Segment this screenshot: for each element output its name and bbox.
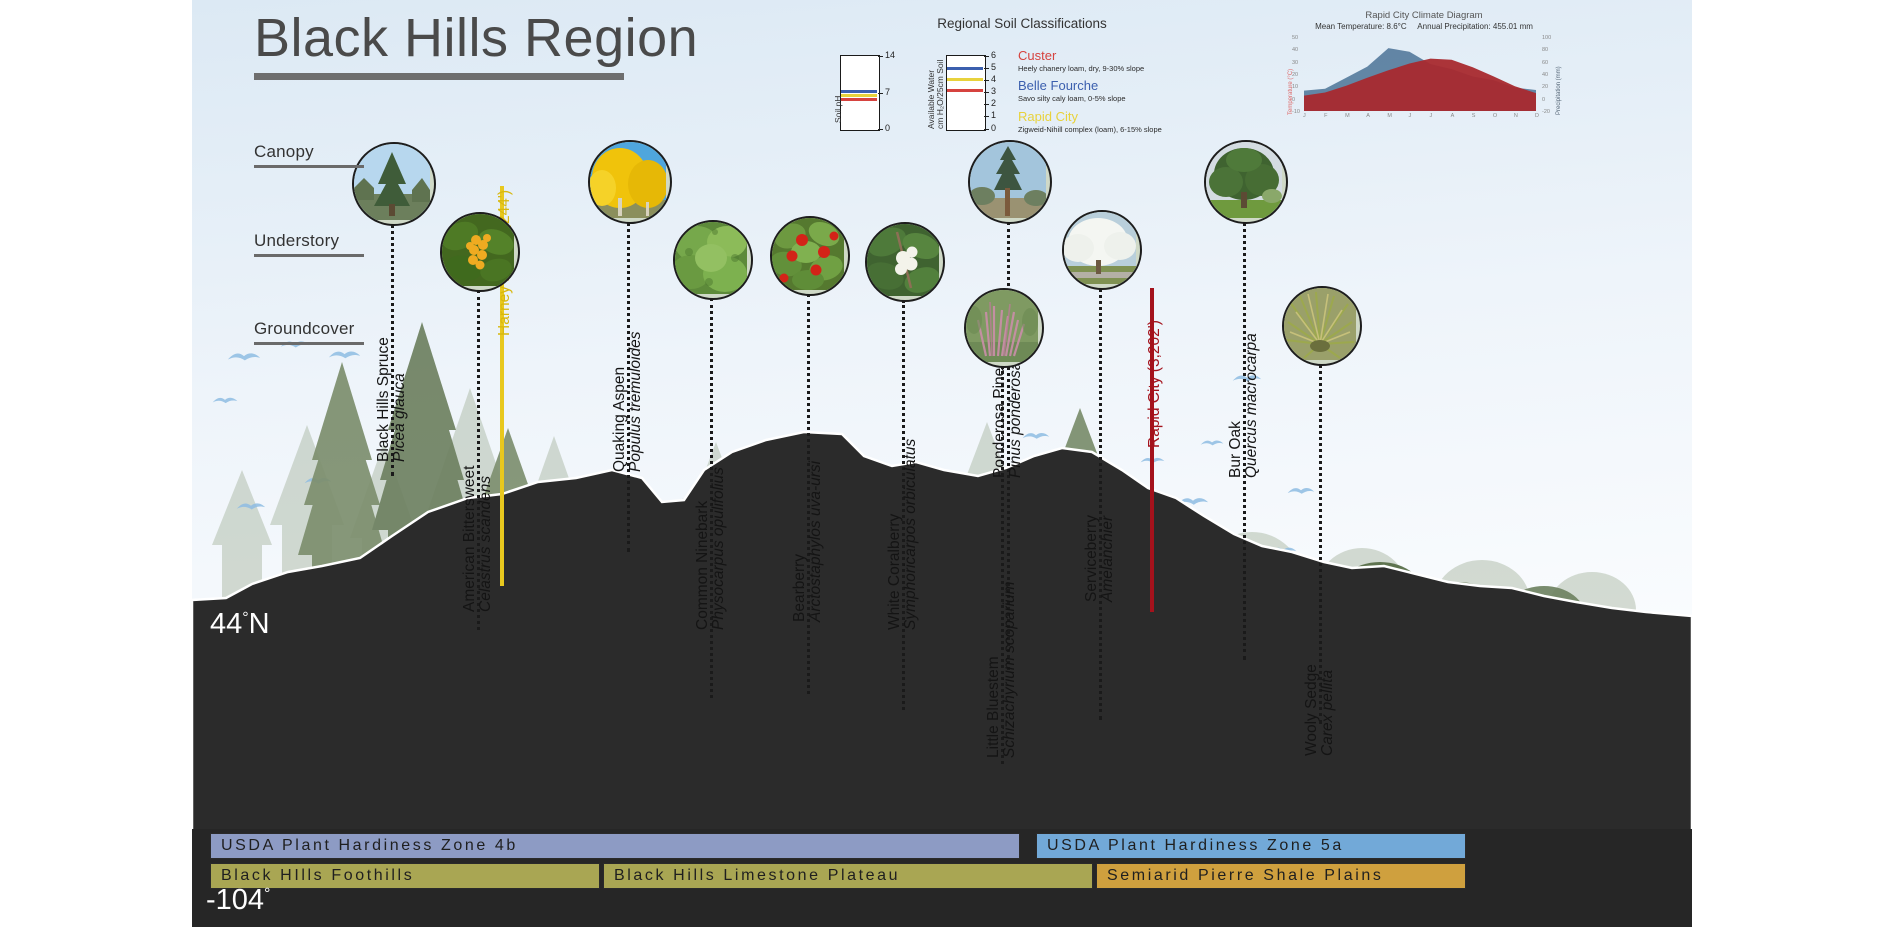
soil-class-desc: Heely chanery loam, dry, 9-30% slope	[1018, 64, 1144, 73]
ph-tick-7: 7	[885, 87, 890, 97]
water-line-belle-fourche	[947, 67, 983, 70]
midground-vegetation	[192, 300, 1692, 640]
soil-ph-axis-box	[840, 55, 880, 131]
page-title: Black Hills Region	[254, 10, 698, 67]
water-tickmark	[984, 56, 989, 57]
species-latin-name: Schizachyrium scoparium	[1002, 581, 1018, 758]
species-common-name: Serviceberry	[1084, 515, 1100, 602]
soil-class-name: Rapid City	[1018, 110, 1162, 123]
climate-diagram: Rapid City Climate Diagram Mean Temperat…	[1274, 10, 1574, 130]
water-tickmark	[984, 116, 989, 117]
hardiness-zone-row: USDA Plant Hardiness Zone 4b USDA Plant …	[210, 833, 1692, 859]
stratum-canopy-label: Canopy	[254, 142, 364, 162]
species-common-name: Common Ninebark	[695, 467, 711, 630]
climate-month-label: M	[1345, 113, 1350, 119]
buroak-photo	[1204, 140, 1288, 224]
title-underline	[254, 73, 624, 80]
species-latin-name: Symphoricarpos orbiculatus	[903, 439, 919, 630]
climate-ylabel-right: Precipitation (mm)	[1556, 66, 1562, 115]
right-margin	[1692, 0, 1900, 927]
left-margin	[0, 0, 192, 927]
climate-month-label: J	[1430, 113, 1433, 119]
species-latin-name: Carex pellita	[1320, 664, 1336, 756]
title-block: Black Hills Region	[254, 10, 698, 80]
ph-line-custer	[841, 98, 877, 101]
species-common-name: Little Bluestem	[986, 581, 1002, 758]
species-latin-name: Quercus macrocarpa	[1244, 333, 1260, 478]
bands-container: USDA Plant Hardiness Zone 4b USDA Plant …	[192, 833, 1692, 927]
ph-tickmark	[878, 93, 883, 94]
species-name-block: Little Bluestem Schizachyrium scoparium	[986, 581, 1019, 758]
climate-month-label: A	[1451, 113, 1455, 119]
stratum-groundcover-underline	[254, 342, 364, 345]
water-tick-2: 2	[991, 98, 996, 108]
stratum-canopy-underline	[254, 165, 364, 168]
species-name-block: American Bittersweet Celastrus scandens	[462, 466, 495, 612]
climate-month-label: N	[1514, 113, 1518, 119]
climate-left-tick: 30	[1292, 60, 1298, 66]
stratum-groundcover-label: Groundcover	[254, 319, 364, 339]
climate-right-tick: 40	[1542, 72, 1548, 78]
stratum-understory: Understory	[254, 231, 364, 257]
soil-class-desc: Zigweid-Nihill complex (loam), 6-15% slo…	[1018, 125, 1162, 134]
water-tick-3: 3	[991, 86, 996, 96]
climate-left-tick: 0	[1292, 97, 1295, 103]
species-latin-name: Arctostaphylos uva-ursi	[808, 461, 824, 622]
species-name-block: Quaking Aspen Populus tremuloides	[612, 332, 645, 472]
species-name-block: Black Hills Spruce Picea glauca	[376, 337, 409, 462]
coralberry-photo	[865, 222, 945, 302]
climate-month-label: A	[1366, 113, 1370, 119]
water-tick-4: 4	[991, 74, 996, 84]
soil-class-desc: Savo silty caly loam, 0-5% slope	[1018, 94, 1126, 103]
climate-month-label: J	[1408, 113, 1411, 119]
water-tickmark	[984, 68, 989, 69]
longitude-label: -104°	[206, 884, 270, 917]
climate-annual-precipitation: Annual Precipitation: 455.01 mm	[1417, 22, 1533, 31]
band-label: USDA Plant Hardiness Zone 5a	[1047, 837, 1344, 855]
band-label: USDA Plant Hardiness Zone 4b	[221, 837, 518, 855]
species-latin-name: Amelanchier	[1100, 515, 1116, 602]
water-tickmark	[984, 92, 989, 93]
climate-left-tick: 40	[1292, 47, 1298, 53]
band-hardiness-zone-4b[interactable]: USDA Plant Hardiness Zone 4b	[210, 833, 1020, 859]
band-label: Black Hills Limestone Plateau	[614, 867, 900, 885]
species-name-block: Wooly Sedge Carex pellita	[1304, 664, 1337, 756]
ph-tick-0: 0	[885, 123, 890, 133]
soil-water-axis-label-2: cm H₂O/25cm Soil	[936, 60, 946, 129]
serviceberry-photo	[1062, 210, 1142, 290]
spruce-photo	[352, 142, 436, 226]
species-common-name: Quaking Aspen	[612, 332, 628, 472]
species-latin-name: Celastrus scandens	[478, 466, 494, 612]
climate-month-label: O	[1493, 113, 1497, 119]
water-tick-0: 0	[991, 123, 996, 133]
ph-line-belle-fourche	[841, 90, 877, 93]
ponderosa-photo	[968, 140, 1052, 224]
band-semiarid-pierre-shale-plains[interactable]: Semiarid Pierre Shale Plains	[1096, 863, 1466, 889]
species-common-name: Bur Oak	[1228, 333, 1244, 478]
climate-right-tick: 100	[1542, 35, 1551, 41]
ph-line-rapid-city	[841, 94, 877, 97]
ph-tickmark	[878, 56, 883, 57]
latitude-label: 44°N	[210, 608, 270, 641]
soil-legend-belle-fourche: Belle Fourche Savo silty caly loam, 0-5%…	[1018, 79, 1126, 103]
species-latin-name: Physocarpus opulifolius	[711, 467, 727, 630]
band-hardiness-zone-5a[interactable]: USDA Plant Hardiness Zone 5a	[1036, 833, 1466, 859]
stratum-understory-underline	[254, 254, 364, 257]
species-name-block: Common Ninebark Physocarpus opulifolius	[695, 467, 728, 630]
climate-month-label: D	[1535, 113, 1539, 119]
climate-month-label: J	[1303, 113, 1306, 119]
bearberry-photo	[770, 216, 850, 296]
climate-right-tick: 60	[1542, 60, 1548, 66]
band-label: Black HIlls Foothills	[221, 867, 414, 885]
ph-tick-14: 14	[885, 50, 895, 60]
soil-legend-rapid-city: Rapid City Zigweid-Nihill complex (loam)…	[1018, 110, 1162, 134]
species-latin-name: Populus tremuloides	[628, 332, 644, 472]
bluestem-photo	[964, 288, 1044, 368]
climate-right-tick: 0	[1542, 97, 1545, 103]
water-tick-5: 5	[991, 62, 996, 72]
leader-line	[1099, 288, 1102, 720]
climate-month-label: S	[1472, 113, 1476, 119]
climate-title: Rapid City Climate Diagram	[1274, 10, 1574, 21]
soil-panel-title: Regional Soil Classifications	[882, 16, 1162, 31]
species-name-block: White Coralberry Symphoricarpos orbicula…	[887, 439, 920, 630]
ph-tickmark	[878, 129, 883, 130]
climate-left-tick: -10	[1292, 109, 1300, 115]
species-name-block: Bur Oak Quercus macrocarpa	[1228, 333, 1261, 478]
water-tickmark	[984, 129, 989, 130]
water-tick-1: 1	[991, 110, 996, 120]
ninebark-photo	[673, 220, 753, 300]
soil-class-name: Belle Fourche	[1018, 79, 1126, 92]
climate-month-label: M	[1387, 113, 1392, 119]
climate-right-tick: 20	[1542, 84, 1548, 90]
climate-left-tick: 50	[1292, 35, 1298, 41]
climate-right-tick: -20	[1542, 109, 1550, 115]
species-common-name: Black Hills Spruce	[376, 337, 392, 462]
stratum-understory-label: Understory	[254, 231, 364, 251]
water-tickmark	[984, 80, 989, 81]
climate-plot-area	[1304, 37, 1536, 111]
species-latin-name: Pinus ponderosa	[1008, 362, 1024, 478]
species-name-block: Serviceberry Amelanchier	[1084, 515, 1117, 602]
soil-legend-custer: Custer Heely chanery loam, dry, 9-30% sl…	[1018, 49, 1144, 73]
climate-right-tick: 80	[1542, 47, 1548, 53]
water-line-custer	[947, 89, 983, 92]
water-line-rapid-city	[947, 78, 983, 81]
rapid-city-label: Rapid City (3,202')	[1146, 320, 1164, 448]
climate-subtitle: Mean Temperature: 8.6°C Annual Precipita…	[1274, 22, 1574, 31]
band-black-hills-limestone-plateau[interactable]: Black Hills Limestone Plateau	[603, 863, 1093, 889]
species-common-name: American Bittersweet	[462, 466, 478, 612]
sedge-photo	[1282, 286, 1362, 366]
climate-month-label: F	[1324, 113, 1327, 119]
poster-canvas: Black Hills Region Canopy Understory Gro…	[192, 0, 1692, 927]
species-common-name: White Coralberry	[887, 439, 903, 630]
bittersweet-photo	[440, 212, 520, 292]
band-label: Semiarid Pierre Shale Plains	[1107, 867, 1383, 885]
climate-mean-temperature: Mean Temperature: 8.6°C	[1315, 22, 1407, 31]
climate-left-tick: 20	[1292, 72, 1298, 78]
soil-classification-panel: Regional Soil Classifications Soil pH 14…	[832, 16, 1162, 132]
species-common-name: Wooly Sedge	[1304, 664, 1320, 756]
species-name-block: Ponderosa Pine Pinus ponderosa	[992, 362, 1025, 478]
physiographic-region-row: Black HIlls Foothills Black Hills Limest…	[210, 863, 1692, 889]
water-tickmark	[984, 104, 989, 105]
species-latin-name: Picea glauca	[392, 337, 408, 462]
soil-class-name: Custer	[1018, 49, 1144, 62]
stratum-groundcover: Groundcover	[254, 319, 364, 345]
stratum-canopy: Canopy	[254, 142, 364, 168]
water-tick-6: 6	[991, 50, 996, 60]
climate-left-tick: 10	[1292, 84, 1298, 90]
aspen-photo	[588, 140, 672, 224]
species-common-name: Bearberry	[792, 461, 808, 622]
species-name-block: Bearberry Arctostaphylos uva-ursi	[792, 461, 825, 622]
